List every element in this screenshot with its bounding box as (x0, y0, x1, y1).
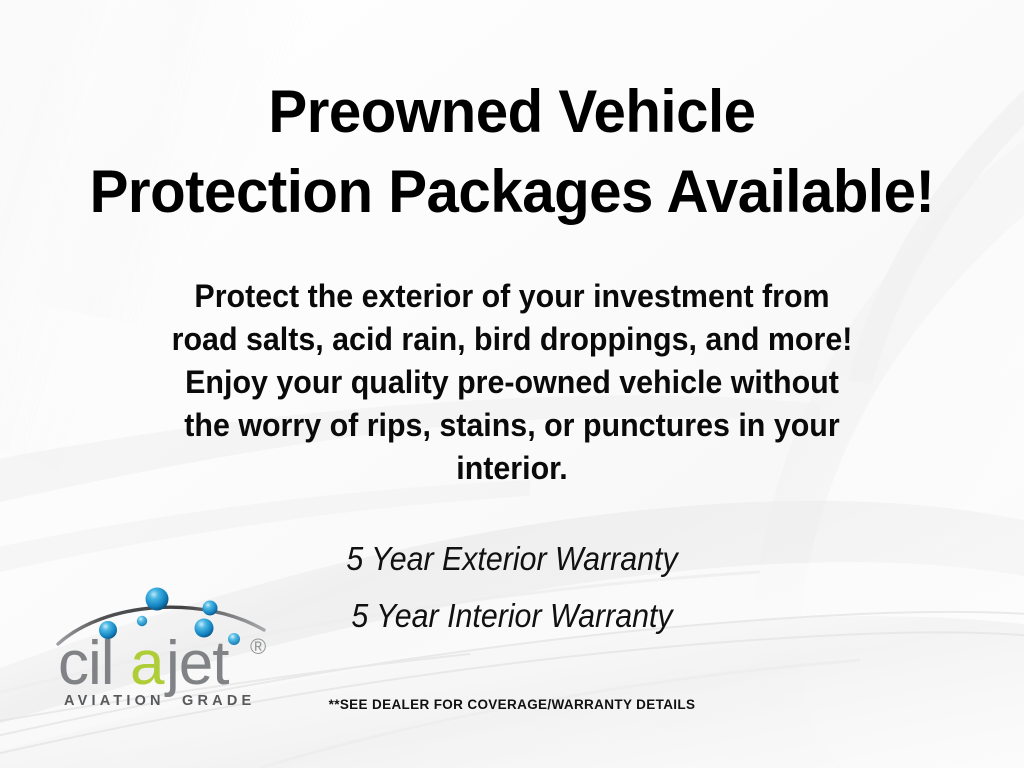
logo-registered-mark: ® (250, 634, 266, 659)
logo-tagline-grade: GRADE (182, 693, 255, 709)
bubble-mid-1 (203, 601, 218, 616)
headline-line-2: Protection Packages Available! (15, 152, 1008, 232)
slide-content: Preowned Vehicle Protection Packages Ava… (0, 0, 1024, 768)
body-line-2: road salts, acid rain, bird droppings, a… (26, 318, 999, 361)
logo-tagline-aviation: AVIATION (64, 693, 165, 709)
logo-tagline: AVIATION GRADE (64, 693, 255, 709)
warranty-exterior: 5 Year Exterior Warranty (41, 530, 983, 587)
body-line-4: the worry of rips, stains, or punctures … (26, 404, 999, 447)
bubble-large (146, 588, 169, 611)
body-line-1: Protect the exterior of your investment … (26, 275, 999, 318)
slide-canvas: Preowned Vehicle Protection Packages Ava… (0, 0, 1024, 768)
logo-wordmark-accent: a (130, 629, 165, 698)
logo-wordmark-suffix: jet (164, 629, 229, 698)
logo-wordmark-prefix: cil (58, 629, 114, 698)
body-line-3: Enjoy your quality pre-owned vehicle wit… (26, 361, 999, 404)
body-line-5: interior. (26, 447, 999, 490)
headline-line-1: Preowned Vehicle (15, 72, 1008, 152)
page-title: Preowned Vehicle Protection Packages Ava… (15, 72, 1008, 232)
body-copy: Protect the exterior of your investment … (26, 275, 999, 490)
bubble-small-2 (228, 633, 240, 645)
bubble-small-1 (137, 616, 147, 626)
cilajet-logo: cil a jet ® AVIATION GRADE (52, 582, 302, 712)
